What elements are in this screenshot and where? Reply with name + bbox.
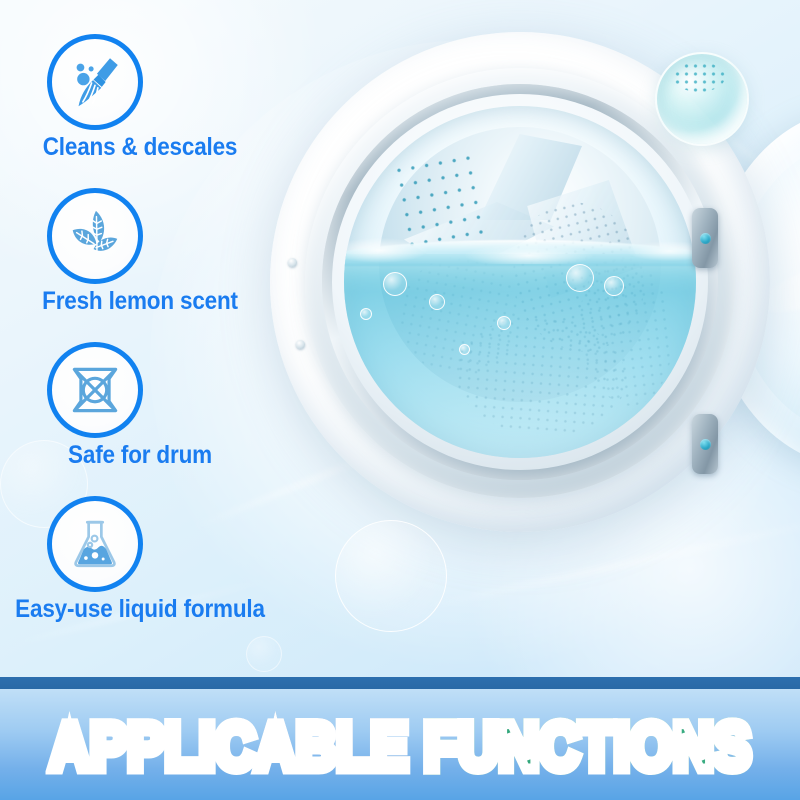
- drum-interior: [344, 106, 696, 458]
- feature-label: Cleans & descales: [14, 132, 266, 162]
- banner-title: APPLICABLE FUNCTIONS: [49, 713, 750, 779]
- door-hinge-bottom: [692, 414, 718, 474]
- washing-machine-image: [240, 22, 800, 662]
- water-foam-highlights: [344, 230, 696, 264]
- banner-title-space: [408, 709, 424, 783]
- feature-item-fresh-lemon-scent: Fresh lemon scent: [0, 188, 290, 342]
- panel-screw: [296, 340, 305, 349]
- leaves-icon: [64, 205, 126, 267]
- water-bubble: [360, 308, 372, 320]
- water-bubble: [566, 264, 594, 292]
- water-bubble: [383, 272, 407, 296]
- product-infographic-poster: Cleans & descales: [0, 0, 800, 800]
- feature-label: Fresh lemon scent: [14, 286, 266, 316]
- drum-water: [344, 254, 696, 458]
- feature-icon-circle: [47, 188, 143, 284]
- feature-icon-circle: [47, 34, 143, 130]
- water-bubble: [459, 344, 470, 355]
- feature-icon-circle: [47, 496, 143, 592]
- drum-safe-icon: [65, 360, 125, 420]
- water-bubble: [497, 316, 511, 330]
- feature-list: Cleans & descales: [0, 34, 290, 650]
- feature-icon-circle: [47, 342, 143, 438]
- feature-item-safe-for-drum: Safe for drum: [0, 342, 290, 496]
- hinge-screw: [700, 233, 711, 244]
- water-bubble: [604, 276, 624, 296]
- banner: APPLICABLE FUNCTIONS: [0, 689, 800, 800]
- banner-divider: [0, 677, 800, 689]
- feature-label: Safe for drum: [14, 440, 266, 470]
- feature-label: Easy-use liquid formula: [14, 594, 266, 624]
- broom-icon: [64, 51, 126, 113]
- banner-title-word-2: FUNCTIONS: [424, 709, 751, 783]
- hinge-screw: [700, 439, 711, 450]
- banner-title-word-1: APPLICABLE: [49, 709, 407, 783]
- door-hinge-top: [692, 208, 718, 268]
- water-bubble: [429, 294, 445, 310]
- flask-icon: [66, 515, 124, 573]
- feature-item-easy-use-liquid-formula: Easy-use liquid formula: [0, 496, 290, 650]
- feature-item-cleans-descales: Cleans & descales: [0, 34, 290, 188]
